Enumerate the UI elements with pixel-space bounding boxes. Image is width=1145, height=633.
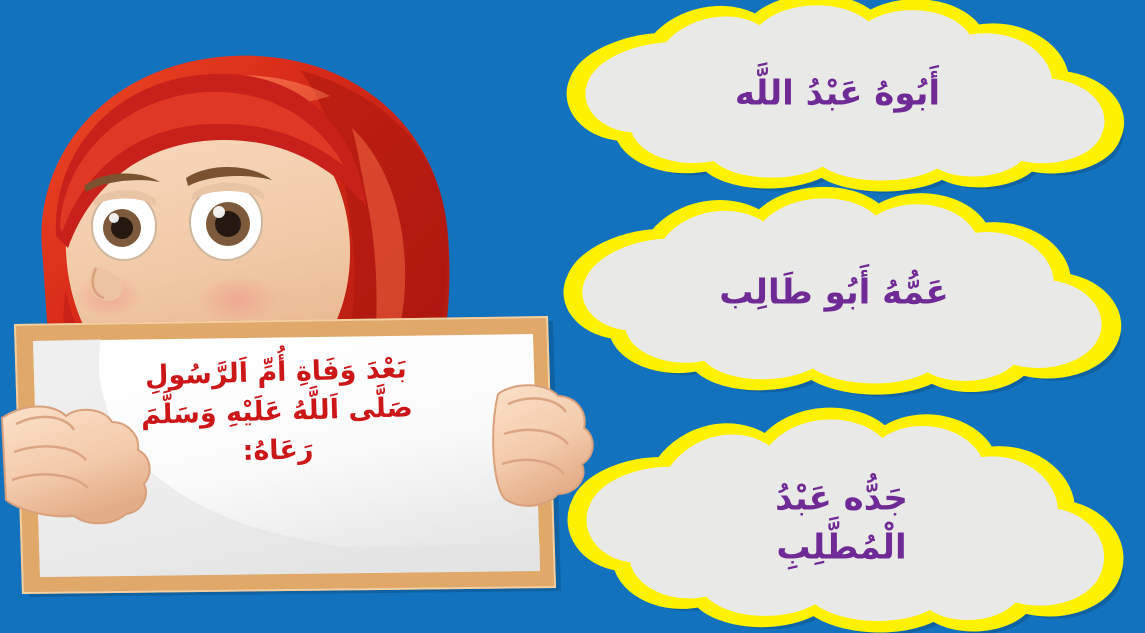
nose [89,266,122,301]
eye-right [190,183,264,260]
eye-left [92,190,156,260]
cloud-grandfather[interactable]: جَدُّه عَبْدُ الْمُطَّلِبِ [538,418,1145,630]
eyebrow-right [186,167,272,186]
cheek-left [74,274,142,318]
eyebrow-left [84,173,160,192]
slide-canvas: بَعْدَ وَفَاةِ أُمِّ اَلرَّسُولِ صَلَّى … [0,0,1145,633]
cloud-uncle[interactable]: عَمُّهُ أَبُو طَالِب [524,198,1144,388]
whiteboard: بَعْدَ وَفَاةِ أُمِّ اَلرَّسُولِ صَلَّى … [5,315,550,587]
cloud-father[interactable]: أَبُوهُ عَبْدُ اللَّه [530,6,1145,182]
